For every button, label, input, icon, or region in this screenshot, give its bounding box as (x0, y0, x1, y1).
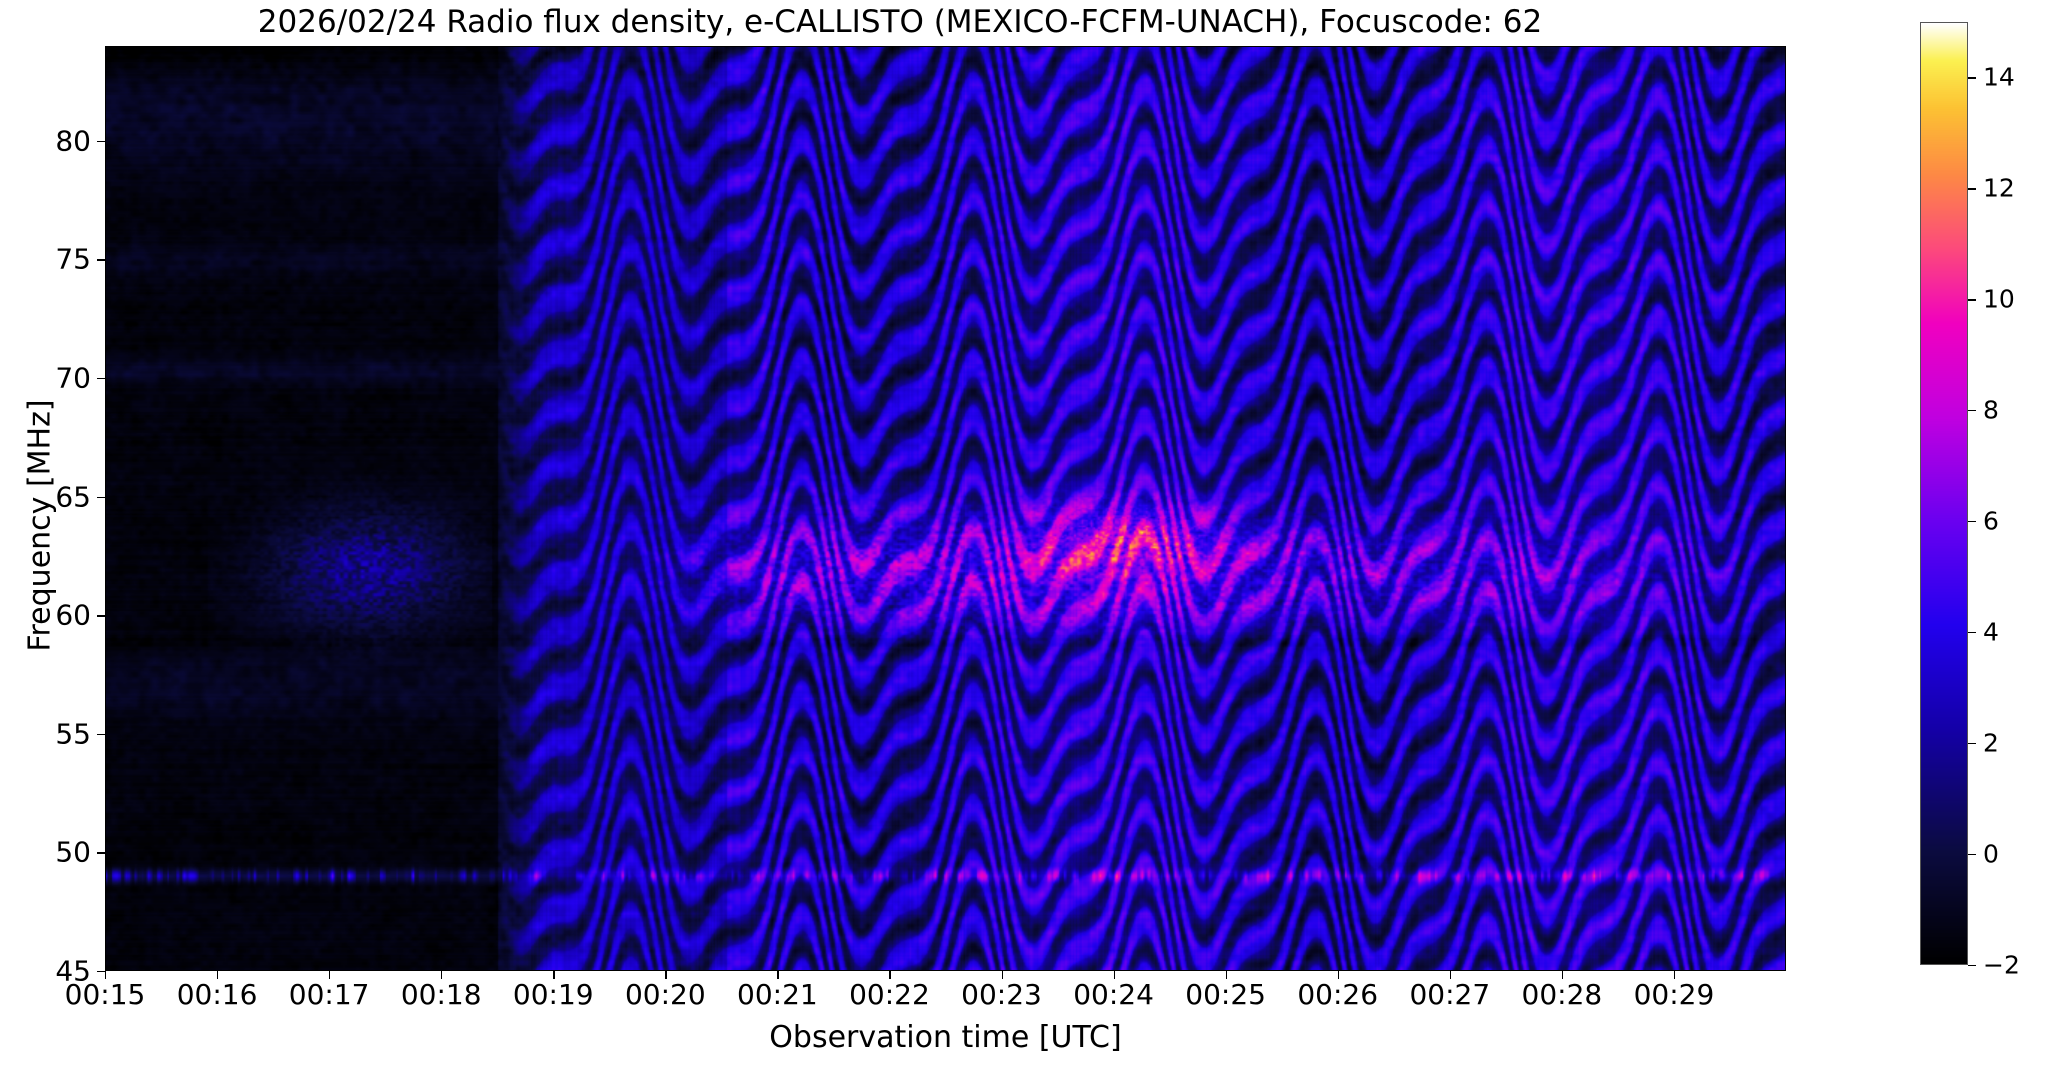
colorbar-tick-label: 12 (1983, 174, 2015, 203)
y-tick-mark (97, 734, 105, 735)
colorbar-tick-label: −2 (1983, 951, 2020, 980)
colorbar-tick-mark (1968, 854, 1976, 855)
y-tick-mark (97, 378, 105, 379)
page-title: 2026/02/24 Radio flux density, e-CALLIST… (0, 4, 1800, 40)
x-axis-label: Observation time [UTC] (105, 1020, 1786, 1055)
colorbar-tick-label: 2 (1983, 729, 1999, 758)
y-tick-mark (97, 141, 105, 142)
colorbar-gradient (1921, 23, 1967, 964)
x-tick-label: 00:22 (849, 978, 930, 1011)
spectrogram-plot-area[interactable] (105, 46, 1786, 971)
colorbar-tick-mark (1968, 743, 1976, 744)
x-tick-mark (1002, 971, 1003, 979)
colorbar[interactable] (1920, 22, 1968, 965)
y-tick-label: 50 (55, 836, 91, 869)
x-tick-label: 00:21 (737, 978, 818, 1011)
x-tick-mark (1450, 971, 1451, 979)
x-tick-mark (889, 971, 890, 979)
colorbar-tick-mark (1968, 521, 1976, 522)
x-tick-mark (329, 971, 330, 979)
x-tick-mark (1674, 971, 1675, 979)
y-tick-mark (97, 971, 105, 972)
x-tick-mark (217, 971, 218, 979)
y-tick-mark (97, 259, 105, 260)
colorbar-tick-mark (1968, 299, 1976, 300)
colorbar-tick-mark (1968, 188, 1976, 189)
y-tick-label: 55 (55, 717, 91, 750)
y-axis-label: Frequency [MHz] (23, 296, 58, 756)
x-tick-label: 00:16 (177, 978, 258, 1011)
x-tick-mark (777, 971, 778, 979)
x-tick-mark (441, 971, 442, 979)
x-tick-mark (553, 971, 554, 979)
x-tick-label: 00:23 (961, 978, 1042, 1011)
y-tick-label: 65 (55, 480, 91, 513)
colorbar-tick-label: 10 (1983, 285, 2015, 314)
x-tick-label: 00:18 (401, 978, 482, 1011)
colorbar-tick-label: 14 (1983, 63, 2015, 92)
x-tick-label: 00:24 (1073, 978, 1154, 1011)
x-tick-label: 00:25 (1185, 978, 1266, 1011)
y-tick-label: 75 (55, 243, 91, 276)
x-tick-mark (1562, 971, 1563, 979)
x-tick-mark (1114, 971, 1115, 979)
x-tick-label: 00:17 (289, 978, 370, 1011)
colorbar-tick-mark (1968, 77, 1976, 78)
colorbar-tick-label: 6 (1983, 507, 1999, 536)
y-tick-mark (97, 852, 105, 853)
x-tick-label: 00:20 (625, 978, 706, 1011)
x-tick-label: 00:15 (65, 978, 146, 1011)
x-tick-label: 00:29 (1634, 978, 1715, 1011)
x-tick-label: 00:27 (1409, 978, 1490, 1011)
colorbar-tick-mark (1968, 410, 1976, 411)
y-tick-mark (97, 615, 105, 616)
x-tick-label: 00:26 (1297, 978, 1378, 1011)
colorbar-tick-mark (1968, 965, 1976, 966)
spectrogram-figure: 2026/02/24 Radio flux density, e-CALLIST… (0, 0, 2047, 1067)
spectrogram-image (106, 47, 1785, 970)
x-tick-label: 00:19 (513, 978, 594, 1011)
x-tick-mark (105, 971, 106, 979)
y-tick-label: 70 (55, 362, 91, 395)
y-tick-label: 60 (55, 599, 91, 632)
y-tick-label: 80 (55, 124, 91, 157)
y-tick-mark (97, 497, 105, 498)
colorbar-tick-mark (1968, 632, 1976, 633)
x-tick-mark (1338, 971, 1339, 979)
x-tick-mark (1226, 971, 1227, 979)
colorbar-tick-label: 4 (1983, 618, 1999, 647)
colorbar-tick-label: 8 (1983, 396, 1999, 425)
x-tick-label: 00:28 (1522, 978, 1603, 1011)
colorbar-tick-label: 0 (1983, 840, 1999, 869)
x-tick-mark (665, 971, 666, 979)
